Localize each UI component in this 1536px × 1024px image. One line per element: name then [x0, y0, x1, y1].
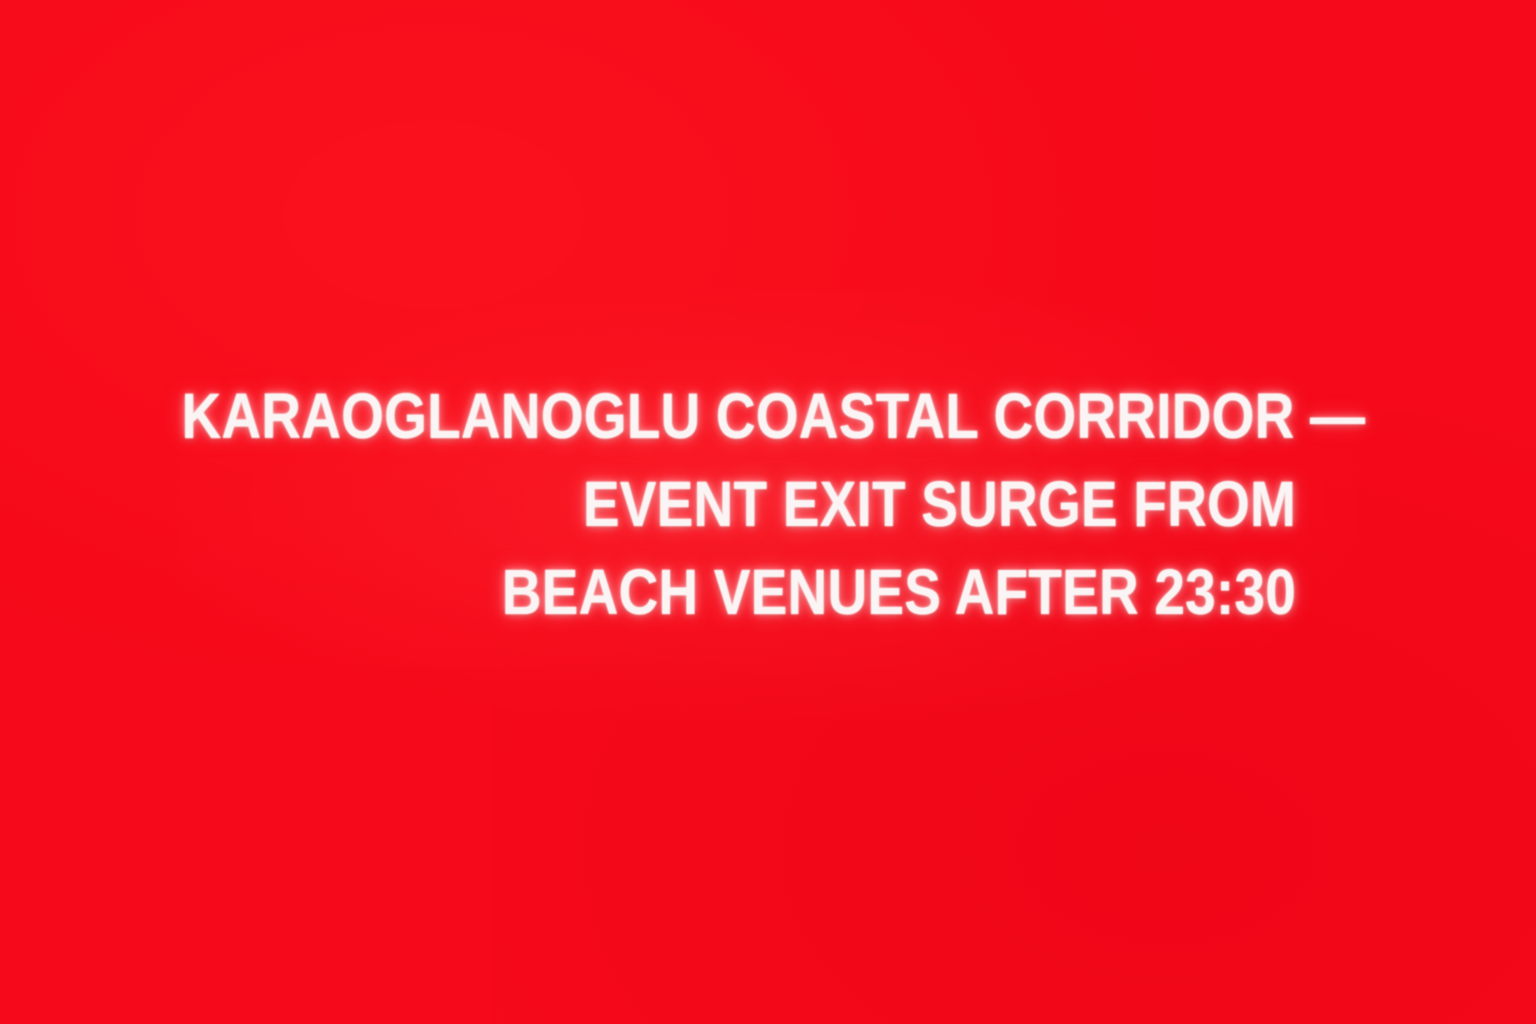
alert-banner: KARAOGLANOGLU COASTAL CORRIDOR — EVENT E…	[0, 0, 1536, 1024]
headline-line-3: BEACH VENUES AFTER 23:30	[181, 548, 1296, 636]
headline-text-block: KARAOGLANOGLU COASTAL CORRIDOR — EVENT E…	[181, 372, 1296, 636]
headline-line-2: EVENT EXIT SURGE FROM	[181, 460, 1296, 548]
headline-line-1: KARAOGLANOGLU COASTAL CORRIDOR —	[181, 372, 1296, 460]
